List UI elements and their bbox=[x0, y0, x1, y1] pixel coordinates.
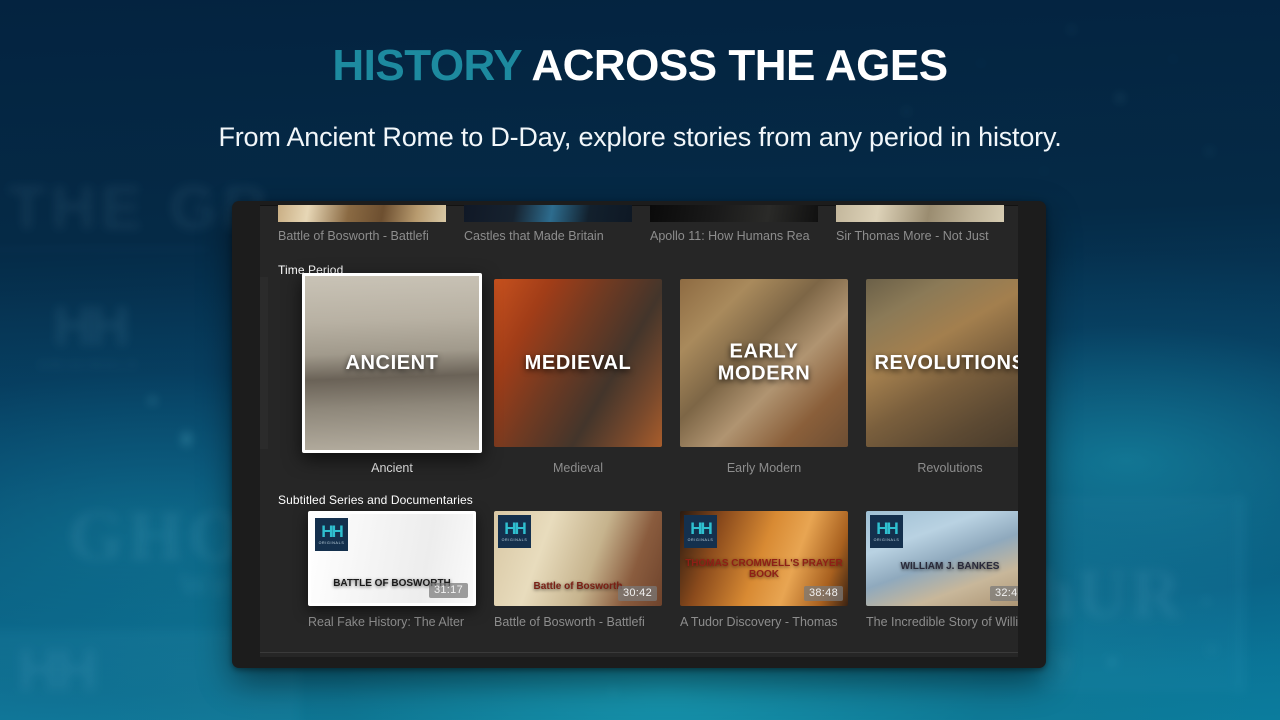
time-period-tile-overlay-word: MEDIEVAL bbox=[494, 352, 662, 374]
time-period-tile[interactable]: EARLY MODERN bbox=[680, 279, 848, 447]
watermark-originals-label: ORIGINALS bbox=[38, 358, 141, 372]
bokeh-speck bbox=[1205, 600, 1208, 603]
time-period-tile[interactable]: MEDIEVAL bbox=[494, 279, 662, 447]
time-period-tile-overlay-word: ANCIENT bbox=[305, 352, 479, 374]
tile-thumbnail[interactable] bbox=[278, 205, 446, 222]
watermark-text-gho: GHO bbox=[68, 500, 248, 572]
hh-logo-mark: HH bbox=[321, 523, 342, 540]
time-period-tile[interactable]: REVOLUTIONS bbox=[866, 279, 1018, 447]
watermark-hh-logo-upper: HH ORIGINALS bbox=[38, 298, 141, 372]
time-period-tile-overlay-word: REVOLUTIONS bbox=[866, 352, 1018, 374]
carousel-row-clipped-top: Battle of Bosworth - BattlefiCastles tha… bbox=[260, 205, 1018, 259]
hh-originals-badge-icon: HHORIGINALS bbox=[870, 515, 903, 548]
page-stage: THE GR HH ORIGINALS GHO Wri HH hUR cy HI… bbox=[0, 0, 1280, 720]
bokeh-speck bbox=[612, 690, 615, 693]
hh-originals-badge-icon: HHORIGINALS bbox=[498, 515, 531, 548]
bokeh-speck bbox=[1210, 648, 1213, 651]
hh-originals-label: ORIGINALS bbox=[874, 539, 900, 543]
documentary-tile[interactable]: HHORIGINALSBattle of Bosworth30:42 bbox=[494, 511, 662, 606]
duration-badge: 38:48 bbox=[804, 586, 843, 601]
watermark-text-hur: hUR bbox=[1035, 560, 1184, 630]
documentary-tile[interactable]: HHORIGINALSBATTLE OF BOSWORTH31:17 bbox=[308, 511, 476, 606]
documentary-tile[interactable]: HHORIGINALSTHOMAS CROMWELL'S PRAYER BOOK… bbox=[680, 511, 848, 606]
bokeh-speck bbox=[1110, 660, 1114, 664]
row-label-subtitled: Subtitled Series and Documentaries bbox=[278, 493, 473, 507]
page-title: HISTORY ACROSS THE AGES bbox=[0, 42, 1280, 90]
carousel-row-time-period: Time Period ANCIENTAncientMEDIEVALMediev… bbox=[260, 263, 1018, 475]
watermark-hh-logo-lower: HH bbox=[18, 642, 94, 700]
bokeh-speck bbox=[182, 432, 191, 446]
time-period-tile-caption: Revolutions bbox=[865, 461, 1018, 475]
hh-logo-mark: HH bbox=[504, 520, 525, 537]
hero-section: HISTORY ACROSS THE AGES From Ancient Rom… bbox=[0, 42, 1280, 153]
hh-originals-label: ORIGINALS bbox=[502, 539, 528, 543]
bokeh-speck bbox=[150, 398, 155, 403]
time-period-tile[interactable]: ANCIENT bbox=[302, 273, 482, 453]
watermark-text-wri: Wri bbox=[178, 570, 240, 603]
bokeh-speck bbox=[1043, 170, 1045, 172]
duration-badge: 30:42 bbox=[618, 586, 657, 601]
tile-caption: Apollo 11: How Humans Rea bbox=[650, 229, 825, 243]
duration-badge: 32:41 bbox=[990, 586, 1018, 601]
tile-thumbnail[interactable] bbox=[836, 205, 1004, 222]
time-period-tile-caption: Medieval bbox=[493, 461, 663, 475]
documentary-tile-title-overlay: THOMAS CROMWELL'S PRAYER BOOK bbox=[680, 558, 848, 580]
tile-thumbnail[interactable] bbox=[650, 205, 818, 222]
page-subtitle: From Ancient Rome to D-Day, explore stor… bbox=[0, 122, 1280, 153]
page-title-accent: HISTORY bbox=[332, 41, 521, 90]
documentary-tile[interactable]: HHORIGINALSWILLIAM J. BANKES32:41 bbox=[866, 511, 1018, 606]
documentary-tile-title-overlay: WILLIAM J. BANKES bbox=[866, 561, 1018, 572]
hh-originals-badge-icon: HHORIGINALS bbox=[684, 515, 717, 548]
time-period-tile-overlay-word: EARLY MODERN bbox=[680, 341, 848, 386]
app-window-frame: Battle of Bosworth - BattlefiCastles tha… bbox=[232, 201, 1046, 668]
watermark-hh-mark-lower: HH bbox=[18, 642, 94, 700]
carousel-left-peek[interactable] bbox=[260, 277, 268, 449]
watermark-hh-mark: HH bbox=[38, 298, 141, 354]
tile-thumbnail[interactable] bbox=[464, 205, 632, 222]
time-period-tile-caption: Ancient bbox=[307, 461, 477, 475]
time-period-tile-caption: Early Modern bbox=[679, 461, 849, 475]
hh-originals-label: ORIGINALS bbox=[319, 542, 345, 546]
hh-logo-mark: HH bbox=[876, 520, 897, 537]
page-title-rest: ACROSS THE AGES bbox=[531, 41, 947, 90]
documentary-tile-caption: The Incredible Story of Willi bbox=[866, 615, 1018, 629]
bokeh-speck bbox=[1070, 28, 1073, 31]
tile-caption: Battle of Bosworth - Battlefi bbox=[278, 229, 453, 243]
tile-caption: Castles that Made Britain bbox=[464, 229, 639, 243]
documentary-tile-caption: Battle of Bosworth - Battlefi bbox=[494, 615, 666, 629]
carousel-row-subtitled: Subtitled Series and Documentaries HHORI… bbox=[260, 493, 1018, 643]
hh-logo-mark: HH bbox=[690, 520, 711, 537]
tile-caption: Sir Thomas More - Not Just bbox=[836, 229, 1011, 243]
hh-originals-label: ORIGINALS bbox=[688, 539, 714, 543]
app-screen: Battle of Bosworth - BattlefiCastles tha… bbox=[260, 205, 1018, 657]
documentary-tile-caption: Real Fake History: The Alter bbox=[308, 615, 480, 629]
watermark-rule bbox=[0, 248, 210, 250]
carousel-container: Battle of Bosworth - BattlefiCastles tha… bbox=[260, 205, 1018, 657]
duration-badge: 31:17 bbox=[429, 583, 468, 598]
hh-originals-badge-icon: HHORIGINALS bbox=[315, 518, 348, 551]
documentary-tile-caption: A Tudor Discovery - Thomas bbox=[680, 615, 852, 629]
